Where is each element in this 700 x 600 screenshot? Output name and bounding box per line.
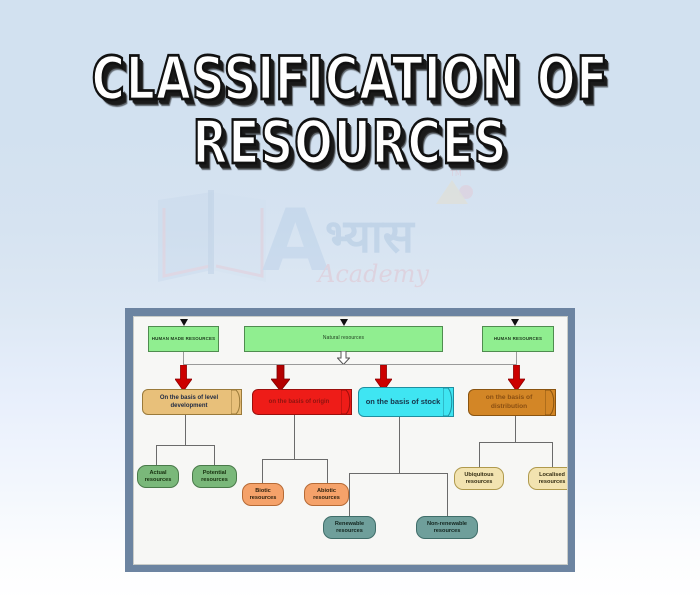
page-title-line-2: RESOURCES <box>49 113 651 176</box>
banner-tail <box>545 390 556 415</box>
svg-text:Academy: Academy <box>316 260 429 288</box>
node-actual-resources[interactable]: Actual resources <box>137 465 179 488</box>
banner-tail <box>231 390 242 414</box>
connector-drop-human-made <box>183 352 184 365</box>
node-label: Abiotic resources <box>307 488 346 502</box>
diagram-canvas: HUMAN MADE RESOURCES Natural resources H… <box>133 316 568 565</box>
connector-drop-1a <box>156 445 157 465</box>
banner-basis-stock[interactable]: on the basis of stock <box>358 387 454 417</box>
banner-tail <box>341 390 352 414</box>
connector-bus-top <box>183 364 516 365</box>
classification-diagram: HUMAN MADE RESOURCES Natural resources H… <box>125 308 575 572</box>
node-label: HUMAN MADE RESOURCES <box>152 336 216 342</box>
down-arrow-icon-human <box>511 319 519 326</box>
node-abiotic-resources[interactable]: Abiotic resources <box>304 483 349 506</box>
connector-bar-1 <box>156 445 214 446</box>
connector-drop-4b <box>552 442 553 467</box>
node-human-resources[interactable]: HUMAN RESOURCES <box>482 326 554 352</box>
node-localised-resources[interactable]: Localised resources <box>528 467 568 490</box>
connector-bar-2 <box>262 459 327 460</box>
node-label: Ubiquitous resources <box>457 472 501 486</box>
connector-stem-4 <box>515 416 516 442</box>
down-arrow-icon-human-made <box>180 319 188 326</box>
banner-label: On the basis of level development <box>147 394 231 411</box>
connector-drop-4a <box>479 442 480 467</box>
node-label: Localised resources <box>531 472 568 486</box>
red-down-arrow-icon-1 <box>175 365 192 391</box>
connector-drop-3a <box>349 473 350 516</box>
page-title-line-1: CLASSIFICATION OF <box>49 49 651 112</box>
book-icon <box>158 190 266 282</box>
banner-basis-distribution[interactable]: on the basis of distribution <box>468 389 556 416</box>
node-ubiquitous-resources[interactable]: Ubiquitous resources <box>454 467 504 490</box>
connector-bar-3 <box>349 473 447 474</box>
connector-drop-2a <box>262 459 263 483</box>
svg-text:A: A <box>262 191 329 291</box>
banner-basis-level-development[interactable]: On the basis of level development <box>142 389 242 415</box>
node-renewable-resources[interactable]: Renewable resources <box>323 516 376 539</box>
connector-stem-2 <box>294 415 295 459</box>
banner-basis-origin[interactable]: on the basis of origin <box>252 389 352 415</box>
node-non-renewable-resources[interactable]: Non-renewable resources <box>416 516 478 539</box>
node-biotic-resources[interactable]: Biotic resources <box>242 483 284 506</box>
connector-drop-human <box>516 352 517 365</box>
watermark-logo: A भ्यास Academy TM <box>150 170 520 295</box>
banner-label: on the basis of origin <box>269 398 330 407</box>
node-label: Biotic resources <box>245 488 281 502</box>
node-label: HUMAN RESOURCES <box>494 336 542 342</box>
banner-label: on the basis of stock <box>366 397 441 407</box>
banner-tail <box>443 388 454 416</box>
red-down-arrow-icon-2 <box>271 365 290 391</box>
node-label: Non-renewable resources <box>419 521 475 535</box>
node-human-made-resources[interactable]: HUMAN MADE RESOURCES <box>148 326 219 352</box>
connector-stem-3 <box>399 417 400 473</box>
node-label: Actual resources <box>140 470 176 484</box>
node-potential-resources[interactable]: Potential resources <box>192 465 237 488</box>
connector-bar-4 <box>479 442 552 443</box>
banner-label: on the basis of distribution <box>473 394 545 411</box>
red-down-arrow-icon-4 <box>508 365 525 391</box>
connector-drop-1b <box>214 445 215 465</box>
node-label: Potential resources <box>195 470 234 484</box>
hollow-down-arrow-icon <box>337 351 350 365</box>
connector-stem-1 <box>185 415 186 445</box>
node-label: Natural resources <box>323 336 364 342</box>
connector-drop-3b <box>447 473 448 516</box>
down-arrow-icon-natural <box>340 319 348 326</box>
node-label: Renewable resources <box>326 521 373 535</box>
node-natural-resources[interactable]: Natural resources <box>244 326 443 352</box>
svg-text:भ्यास: भ्यास <box>325 209 416 263</box>
page-title: CLASSIFICATION OF RESOURCES <box>0 52 700 172</box>
connector-drop-2b <box>327 459 328 483</box>
